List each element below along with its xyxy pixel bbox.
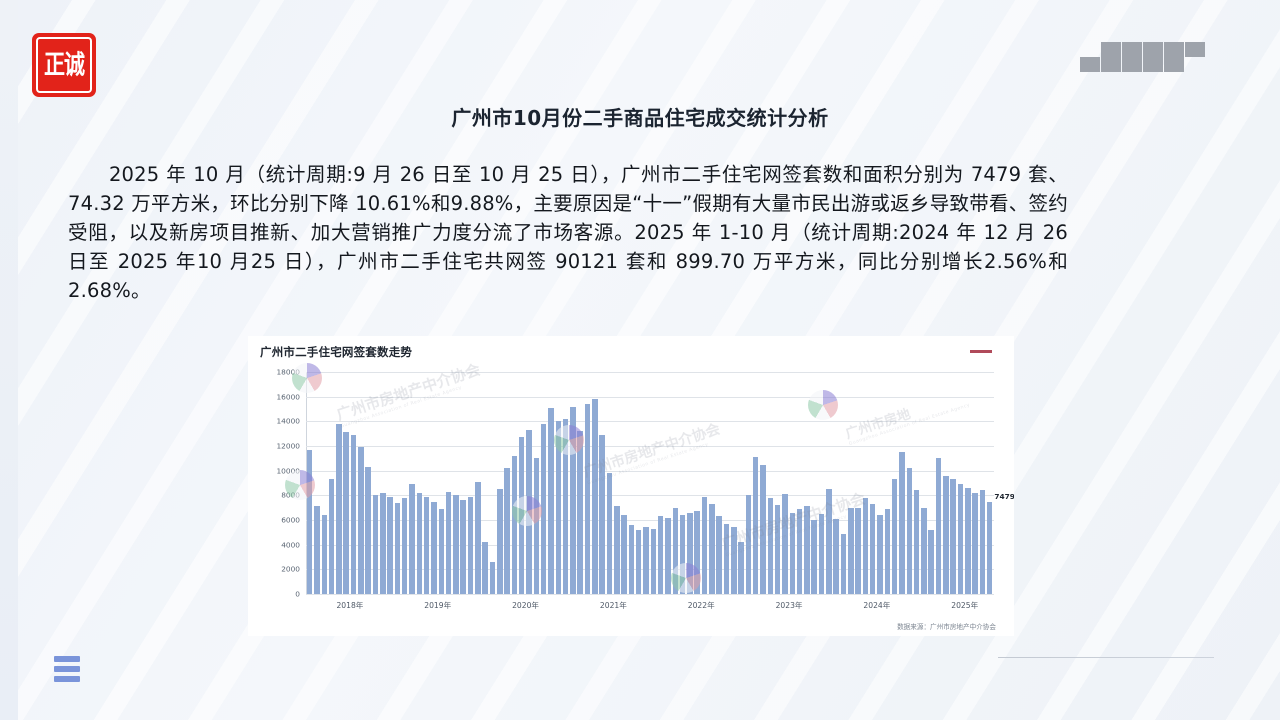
- bar: [599, 435, 605, 594]
- bar: [417, 493, 423, 594]
- y-axis-tick-label: 16000: [276, 392, 300, 401]
- bar: [892, 479, 898, 594]
- bottom-divider: [998, 657, 1214, 659]
- bar: [621, 515, 627, 594]
- chart-source-note: 数据来源：广州市房地产中介协会: [897, 621, 996, 631]
- bar: [753, 457, 759, 594]
- bar-glyph-line: [54, 656, 80, 662]
- bar: [541, 424, 547, 594]
- x-axis-tick-label: 2023年: [776, 600, 803, 611]
- bar: [504, 468, 510, 594]
- x-axis-tick-label: 2022年: [688, 600, 715, 611]
- bar: [987, 502, 993, 594]
- bar: [570, 407, 576, 594]
- bar: [870, 504, 876, 594]
- logo-text: 正诚: [44, 52, 84, 78]
- y-axis-tick-label: 8000: [281, 491, 300, 500]
- bar: [526, 430, 532, 594]
- bar: [431, 502, 437, 595]
- bar: [490, 562, 496, 594]
- chart-plot-area: 1800016000140001200010000800060004000200…: [306, 372, 994, 594]
- bar: [402, 498, 408, 594]
- bar: [585, 404, 591, 594]
- bar: [972, 493, 978, 594]
- bar: [768, 498, 774, 594]
- y-axis-tick-label: 18000: [276, 368, 300, 377]
- bar: [841, 534, 847, 594]
- bar: [314, 506, 320, 594]
- bar: [651, 529, 657, 594]
- bar: [548, 408, 554, 594]
- bar: [709, 504, 715, 594]
- bar: [936, 458, 942, 594]
- bar: [453, 495, 459, 594]
- page-title: 广州市10月份二手商品住宅成交统计分析: [0, 102, 1280, 131]
- legend-marker-icon: [970, 350, 992, 353]
- bar: [746, 495, 752, 594]
- bar: [512, 456, 518, 594]
- bar: [760, 465, 766, 595]
- bar: [475, 482, 481, 594]
- bar: [519, 437, 525, 594]
- bar: [673, 508, 679, 594]
- bar: [468, 497, 474, 594]
- bar: [497, 489, 503, 594]
- bar: [409, 484, 415, 594]
- bar: [680, 515, 686, 594]
- bar: [592, 399, 598, 594]
- bar: [914, 490, 920, 594]
- bar: [373, 495, 379, 594]
- y-axis-tick-label: 4000: [281, 540, 300, 549]
- bar: [643, 527, 649, 594]
- bar: [782, 494, 788, 594]
- bar: [307, 450, 313, 594]
- x-axis-tick-label: 2018年: [336, 600, 363, 611]
- bar: [658, 516, 664, 594]
- checker-decoration: [1080, 42, 1208, 74]
- bar: [702, 497, 708, 594]
- bar: [460, 500, 466, 594]
- x-axis-tick-label: 2021年: [600, 600, 627, 611]
- bar-glyph-line: [54, 676, 80, 682]
- bar: [797, 509, 803, 594]
- bar: [336, 424, 342, 594]
- bar: [351, 435, 357, 594]
- bar: [614, 506, 620, 594]
- bar: [804, 506, 810, 594]
- y-axis-tick-label: 14000: [276, 417, 300, 426]
- bar: [716, 516, 722, 594]
- bar: [322, 515, 328, 594]
- bar: [731, 527, 737, 594]
- bar: [636, 530, 642, 594]
- bar: [365, 467, 371, 594]
- bar: [629, 525, 635, 594]
- bar: [980, 490, 986, 594]
- bar: [556, 421, 562, 594]
- x-axis-tick-label: 2024年: [863, 600, 890, 611]
- bar: [950, 479, 956, 594]
- slide-background: 正诚 广州市10月份二手商品住宅成交统计分析 2025 年 10 月（统计周期:…: [0, 0, 1280, 720]
- bar: [907, 468, 913, 594]
- bar: [358, 447, 364, 594]
- x-axis-tick-label: 2019年: [424, 600, 451, 611]
- bar: [833, 519, 839, 594]
- bar: [855, 508, 861, 594]
- bar: [380, 493, 386, 594]
- bar: [577, 431, 583, 594]
- bar: [687, 513, 693, 594]
- y-axis-tick-label: 6000: [281, 515, 300, 524]
- bar: [899, 452, 905, 594]
- bar: [775, 505, 781, 594]
- chart-card: 广州市二手住宅网签套数走势 18000160001400012000100008…: [248, 336, 1014, 636]
- bar: [387, 497, 393, 594]
- bar-glyph-line: [54, 666, 80, 672]
- bar: [329, 479, 335, 594]
- menu-bars-icon[interactable]: [54, 656, 80, 682]
- bar: [446, 492, 452, 594]
- bar: [343, 432, 349, 594]
- bar: [395, 503, 401, 594]
- bar: [738, 542, 744, 594]
- body-paragraph: 2025 年 10 月（统计周期:9 月 26 日至 10 月 25 日），广州…: [68, 160, 1068, 305]
- bar: [439, 509, 445, 594]
- bar: [424, 497, 430, 594]
- bar: [863, 498, 869, 594]
- bar: [694, 511, 700, 594]
- y-axis-tick-label: 10000: [276, 466, 300, 475]
- bar: [877, 515, 883, 594]
- bar-series: [306, 372, 994, 594]
- bar: [965, 488, 971, 594]
- y-axis-tick-label: 12000: [276, 441, 300, 450]
- bar: [885, 509, 891, 594]
- bar-value-label: 7479: [994, 492, 1014, 501]
- company-logo: 正诚: [32, 33, 96, 97]
- bar: [819, 514, 825, 594]
- bar: [943, 476, 949, 594]
- x-axis-tick-label: 2020年: [512, 600, 539, 611]
- bar: [790, 513, 796, 594]
- x-axis-ticks: 2018年2019年2020年2021年2022年2023年2024年2025年: [306, 600, 994, 612]
- bar: [848, 508, 854, 594]
- bar: [811, 520, 817, 594]
- x-axis-tick-label: 2025年: [951, 600, 978, 611]
- bar: [563, 419, 569, 594]
- bar: [665, 518, 671, 594]
- bar: [607, 473, 613, 594]
- bar: [921, 508, 927, 594]
- gridline: 0: [306, 594, 994, 595]
- bar: [482, 542, 488, 594]
- bar: [724, 524, 730, 594]
- y-axis-tick-label: 0: [295, 590, 300, 599]
- bar: [928, 530, 934, 594]
- bar: [826, 489, 832, 594]
- y-axis-tick-label: 2000: [281, 565, 300, 574]
- chart-title: 广州市二手住宅网签套数走势: [260, 344, 412, 360]
- logo-border: 正诚: [36, 37, 92, 93]
- bar: [534, 458, 540, 594]
- bar: [958, 484, 964, 594]
